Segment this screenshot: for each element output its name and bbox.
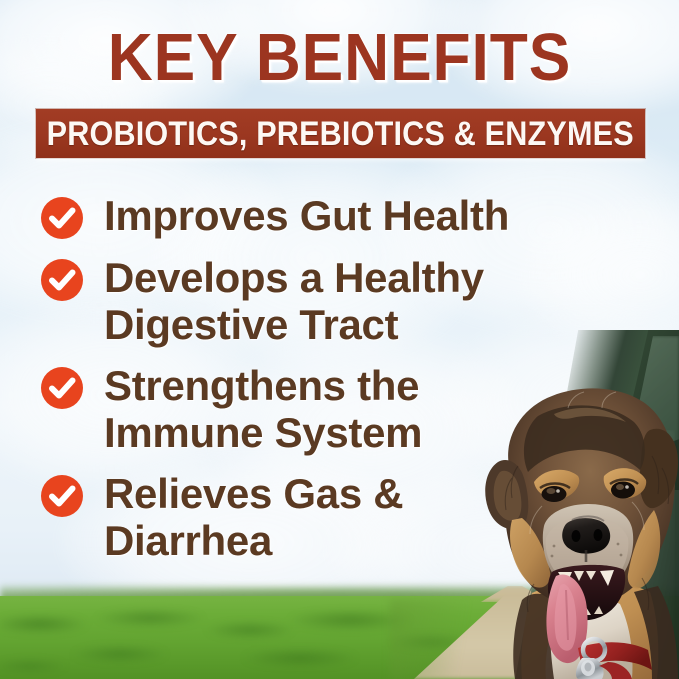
list-item: Relieves Gas & Diarrhea — [40, 470, 510, 564]
subtitle-banner-label: PROBIOTICS, PREBIOTICS & ENZYMES — [47, 117, 634, 151]
dog-photo — [482, 378, 679, 679]
check-circle-icon — [40, 258, 84, 302]
check-circle-icon — [40, 366, 84, 410]
list-item-label: Strengthens the Immune System — [104, 362, 422, 456]
check-circle-icon — [40, 196, 84, 240]
subtitle-banner: PROBIOTICS, PREBIOTICS & ENZYMES — [36, 109, 645, 158]
page-title: KEY BENEFITS — [24, 22, 655, 94]
list-item-label: Develops a Healthy Digestive Tract — [104, 254, 484, 348]
check-circle-icon — [40, 474, 84, 518]
list-item-label: Relieves Gas & Diarrhea — [104, 470, 403, 564]
cloud-decoration — [520, 200, 679, 350]
list-item: Improves Gut Health — [40, 192, 510, 240]
list-item: Strengthens the Immune System — [40, 362, 510, 456]
list-item-label: Improves Gut Health — [104, 192, 509, 239]
infographic-canvas: KEY BENEFITS PROBIOTICS, PREBIOTICS & EN… — [0, 0, 679, 679]
list-item: Develops a Healthy Digestive Tract — [40, 254, 510, 348]
benefits-list: Improves Gut Health Develops a Healthy D… — [40, 192, 510, 564]
